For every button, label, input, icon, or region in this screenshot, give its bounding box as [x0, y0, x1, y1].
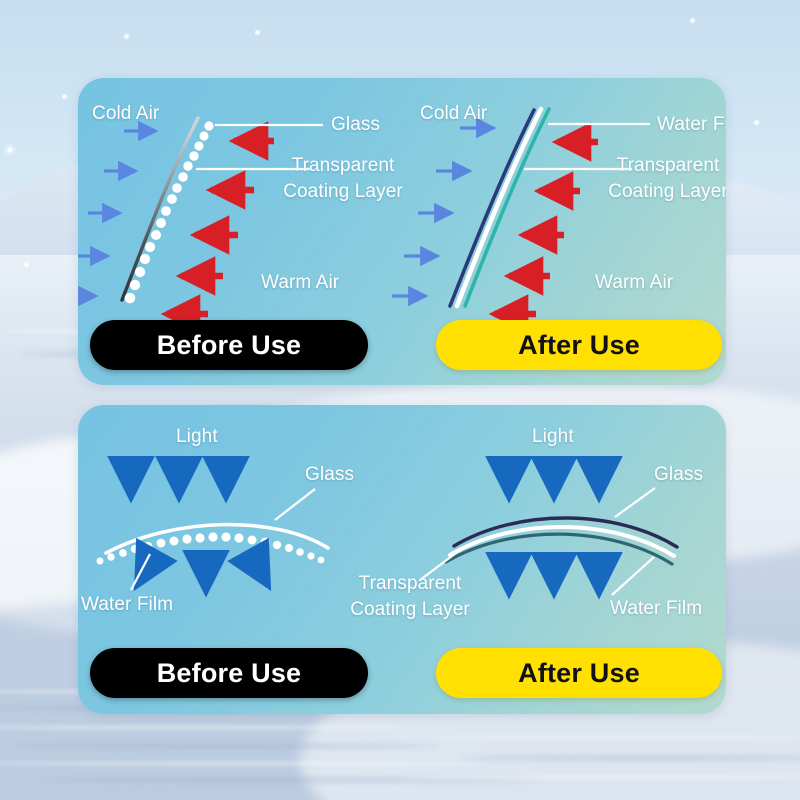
pill-before-use-bottom[interactable]: Before Use [90, 648, 368, 698]
label-transparent-coating-layer: Transparent Coating Layer [604, 153, 726, 205]
cell-bottom-before: Light Glass Water Film Before Use [78, 405, 402, 714]
leader-line-glass [615, 488, 655, 517]
pill-label: Before Use [157, 330, 302, 361]
scattered-light-arrows [140, 553, 265, 585]
water-droplets [97, 532, 325, 564]
label-water-film: Water Film [610, 597, 702, 620]
label-water-film: Water Film [657, 113, 726, 136]
pill-label: Before Use [157, 658, 302, 689]
sparkle-icon [24, 262, 29, 267]
panel-fog-comparison: Cold Air Glass Transparent Coating Layer… [78, 78, 726, 385]
pill-after-use-top[interactable]: After Use [436, 320, 722, 370]
transmitted-light-arrows [509, 557, 599, 587]
label-light: Light [176, 425, 218, 448]
leader-line-water-film [612, 557, 654, 595]
warm-air-arrows [494, 142, 598, 314]
cell-top-after: Cold Air Water Film Transparent Coating … [402, 78, 726, 385]
scattered-arrow [250, 553, 265, 580]
label-cold-air: Cold Air [420, 102, 487, 125]
sparkle-icon [62, 94, 67, 99]
sparkle-icon [255, 30, 260, 35]
label-transparent-coating-layer: Transparent Coating Layer [279, 153, 407, 205]
sparkle-icon [754, 120, 759, 125]
warm-air-arrows [166, 141, 274, 314]
label-glass: Glass [654, 463, 703, 486]
cell-top-before: Cold Air Glass Transparent Coating Layer… [78, 78, 402, 385]
incoming-light-arrows [131, 463, 226, 491]
label-glass: Glass [305, 463, 354, 486]
sand-ripple [40, 778, 540, 782]
cell-bottom-after: Light Glass Transparent Coating Layer Wa… [402, 405, 726, 714]
pill-after-use-bottom[interactable]: After Use [436, 648, 722, 698]
sparkle-icon [124, 34, 129, 39]
sparkle-icon [8, 148, 12, 152]
leader-line-glass [275, 489, 315, 520]
sand-ripple [10, 744, 440, 748]
pill-label: After Use [518, 658, 640, 689]
pill-label: After Use [518, 330, 640, 361]
label-light: Light [532, 425, 574, 448]
label-glass: Glass [331, 113, 380, 136]
panel-light-comparison: Light Glass Water Film Before Use [78, 405, 726, 714]
label-water-film: Water Film [81, 593, 173, 616]
label-warm-air: Warm Air [595, 271, 673, 294]
label-cold-air: Cold Air [92, 102, 159, 125]
pill-before-use-top[interactable]: Before Use [90, 320, 368, 370]
sparkle-icon [690, 18, 695, 23]
incoming-light-arrows [509, 463, 599, 491]
sand-ripple [420, 736, 800, 739]
label-transparent-coating-layer: Transparent Coating Layer [335, 571, 485, 623]
label-warm-air: Warm Air [261, 271, 339, 294]
